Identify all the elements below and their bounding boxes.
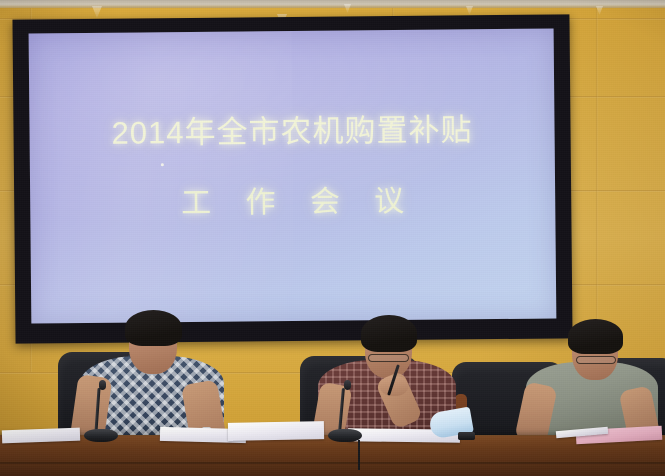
projection-screen-surface: 2014年全市农机购置补贴 工 作 会 议 — [29, 28, 557, 323]
microphone-cable — [358, 440, 360, 470]
meeting-room-photo: 2014年全市农机购置补贴 工 作 会 议 — [0, 0, 665, 476]
microphone-base — [84, 429, 118, 442]
person-center-hair — [361, 315, 417, 352]
microphone-base — [328, 429, 362, 442]
desk — [0, 436, 665, 476]
person-left — [66, 308, 236, 448]
mobile-phone — [458, 432, 475, 440]
microphone-capsule — [99, 380, 106, 390]
eyeglasses-icon — [368, 354, 409, 362]
projection-screen: 2014年全市农机购置补贴 工 作 会 议 — [12, 14, 572, 343]
paper-stack — [2, 428, 80, 444]
eyeglasses-icon — [576, 356, 616, 364]
person-right-hair — [568, 319, 623, 354]
slide-title-line-2: 工 作 会 议 — [168, 176, 417, 222]
slide-title-line-1: 2014年全市农机购置补贴 — [111, 105, 472, 153]
slide-text-block: 2014年全市农机购置补贴 工 作 会 议 — [29, 104, 555, 224]
open-document — [228, 421, 324, 441]
desk-front-line — [0, 462, 665, 464]
microphone-capsule — [344, 380, 351, 390]
person-left-hair — [125, 310, 182, 346]
